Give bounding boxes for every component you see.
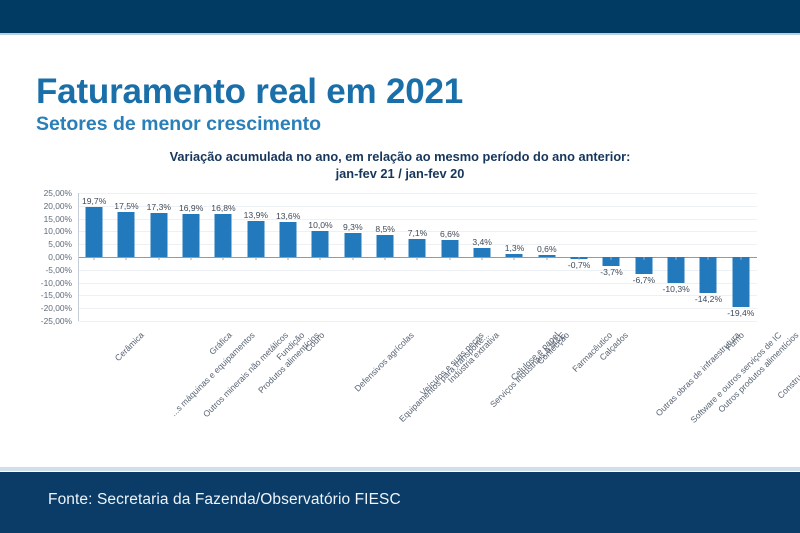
x-axis-tick <box>740 257 741 260</box>
x-axis-tick <box>288 257 289 260</box>
bar-series: 19,7%17,5%17,3%16,9%16,8%13,9%13,6%10,0%… <box>78 193 757 321</box>
bar-slot: 16,8% <box>207 193 239 321</box>
x-axis-tick <box>255 257 256 260</box>
plot-area: 19,7%17,5%17,3%16,9%16,8%13,9%13,6%10,0%… <box>78 193 757 321</box>
footer-rule <box>0 467 800 471</box>
x-axis-tick <box>514 257 515 260</box>
gridline <box>78 321 757 322</box>
y-axis-tick-label: 0,00% <box>48 252 72 262</box>
bar[interactable] <box>732 257 749 307</box>
x-axis-category-labels: Cerâmica...s máquinas e equipamentosOutr… <box>78 330 757 465</box>
chart-plot-wrapper: 25,00%20,00%15,00%10,00%5,00%0,00%-5,00%… <box>0 193 800 333</box>
bar-value-label: 1,3% <box>505 243 525 253</box>
bar-value-label: 10,0% <box>308 220 332 230</box>
x-axis-category-label: Celulose e papel <box>509 330 561 382</box>
bar-value-label: 8,5% <box>375 224 395 234</box>
y-axis-tick-label: 15,00% <box>44 214 72 224</box>
bar[interactable] <box>150 213 167 257</box>
bar-slot: -6,7% <box>628 193 660 321</box>
x-axis-tick <box>708 257 709 260</box>
bar[interactable] <box>183 214 200 257</box>
top-banner <box>0 0 800 33</box>
bar[interactable] <box>215 214 232 257</box>
slide-root: Faturamento real em 2021 Setores de meno… <box>0 0 800 533</box>
bar-value-label: 6,6% <box>440 229 460 239</box>
bar-value-label: -14,2% <box>695 294 722 304</box>
bar-value-label: 17,5% <box>114 201 138 211</box>
y-axis-tick-label: 20,00% <box>44 201 72 211</box>
x-axis-tick <box>320 257 321 260</box>
x-axis-tick <box>126 257 127 260</box>
bar-value-label: 16,9% <box>179 203 203 213</box>
bar-value-label: -3,7% <box>600 267 622 277</box>
bar-value-label: -0,7% <box>568 260 590 270</box>
page-subtitle: Setores de menor crescimento <box>36 113 321 136</box>
bar-value-label: -19,4% <box>727 308 754 318</box>
bar-value-label: -10,3% <box>663 284 690 294</box>
x-axis-tick <box>482 257 483 260</box>
bar-slot: 13,6% <box>272 193 304 321</box>
chart-title: Variação acumulada no ano, em relação ao… <box>0 148 800 182</box>
bar-value-label: -6,7% <box>633 275 655 285</box>
bar-value-label: 19,7% <box>82 196 106 206</box>
bar[interactable] <box>409 239 426 257</box>
bar-value-label: 3,4% <box>472 237 492 247</box>
bar[interactable] <box>86 207 103 257</box>
bar-slot: 19,7% <box>78 193 110 321</box>
bar-slot: 13,9% <box>240 193 272 321</box>
y-axis-tick-label: 5,00% <box>48 239 72 249</box>
y-axis-tick-label: 10,00% <box>44 226 72 236</box>
bar[interactable] <box>344 233 361 257</box>
y-axis-labels: 25,00%20,00%15,00%10,00%5,00%0,00%-5,00%… <box>0 193 76 333</box>
y-axis-tick-label: -25,00% <box>41 316 72 326</box>
bar-value-label: 16,8% <box>211 203 235 213</box>
bar-slot: 1,3% <box>498 193 530 321</box>
x-axis-tick <box>546 257 547 260</box>
bar-slot: 7,1% <box>401 193 433 321</box>
x-axis-tick <box>191 257 192 260</box>
x-axis-category-label: Defensivos agrícolas <box>352 330 415 393</box>
x-axis-tick <box>158 257 159 260</box>
x-axis-tick <box>611 257 612 260</box>
bar-value-label: 0,6% <box>537 244 557 254</box>
source-note: Fonte: Secretaria da Fazenda/Observatóri… <box>48 491 401 509</box>
bar-slot: 8,5% <box>369 193 401 321</box>
x-axis-tick <box>352 257 353 260</box>
bar-slot: 0,6% <box>531 193 563 321</box>
bar[interactable] <box>280 222 297 257</box>
y-axis-tick-label: -20,00% <box>41 303 72 313</box>
bar-slot: -0,7% <box>563 193 595 321</box>
top-banner-rule <box>0 33 800 35</box>
page-title: Faturamento real em 2021 <box>36 72 463 112</box>
bar[interactable] <box>118 212 135 257</box>
bar-value-label: 17,3% <box>147 202 171 212</box>
x-axis-tick <box>417 257 418 260</box>
x-axis-category-label: Couro <box>303 330 327 354</box>
bar-value-label: 13,6% <box>276 211 300 221</box>
bar-slot: 17,3% <box>143 193 175 321</box>
bar-value-label: 7,1% <box>408 228 428 238</box>
bar[interactable] <box>700 257 717 293</box>
bar[interactable] <box>247 221 264 257</box>
bar[interactable] <box>441 240 458 257</box>
y-axis-tick-label: -5,00% <box>45 265 72 275</box>
bar-slot: 9,3% <box>337 193 369 321</box>
y-axis-tick-label: -10,00% <box>41 278 72 288</box>
bar-slot: 17,5% <box>110 193 142 321</box>
bar-slot: 3,4% <box>466 193 498 321</box>
bar-slot: 16,9% <box>175 193 207 321</box>
bar-slot: -14,2% <box>692 193 724 321</box>
bar-slot: -19,4% <box>725 193 757 321</box>
bar-slot: 6,6% <box>434 193 466 321</box>
bar[interactable] <box>377 235 394 257</box>
bar-value-label: 13,9% <box>244 210 268 220</box>
bar-slot: -3,7% <box>595 193 627 321</box>
bar[interactable] <box>312 231 329 257</box>
x-axis-tick <box>385 257 386 260</box>
bar[interactable] <box>474 248 491 257</box>
bar-slot: -10,3% <box>660 193 692 321</box>
y-axis-tick-label: -15,00% <box>41 290 72 300</box>
x-axis-category-label: Veículos e suas peças <box>418 330 486 398</box>
x-axis-category-label: Cerâmica <box>113 330 146 363</box>
bar-slot: 10,0% <box>304 193 336 321</box>
x-axis-tick <box>643 257 644 260</box>
y-axis-tick-label: 25,00% <box>44 188 72 198</box>
x-axis-tick <box>223 257 224 260</box>
x-axis-tick <box>449 257 450 260</box>
x-axis-tick <box>676 257 677 260</box>
chart-title-line1: Variação acumulada no ano, em relação ao… <box>170 149 631 164</box>
x-axis-category-label: Fumo <box>723 330 746 353</box>
bar-value-label: 9,3% <box>343 222 363 232</box>
x-axis-tick <box>94 257 95 260</box>
bar[interactable] <box>668 257 685 283</box>
chart-title-line2: jan-fev 21 / jan-fev 20 <box>0 165 800 182</box>
